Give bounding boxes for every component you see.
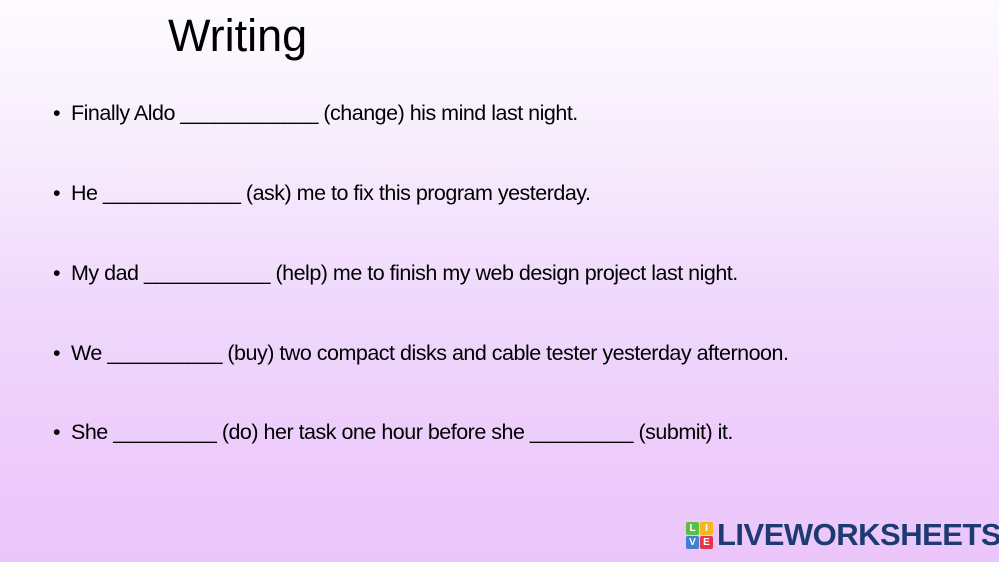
bullet-icon: • [53,98,61,128]
exercise-text: Finally Aldo ____________ (change) his m… [71,101,578,125]
page-title: Writing [168,9,307,62]
exercise-text: He ____________ (ask) me to fix this pro… [71,181,590,205]
list-item: • Finally Aldo ____________ (change) his… [48,98,948,128]
list-item: • She _________ (do) her task one hour b… [48,417,948,447]
list-item: • We __________ (buy) two compact disks … [48,338,948,368]
bullet-icon: • [53,338,61,368]
exercise-list: • Finally Aldo ____________ (change) his… [48,98,948,447]
exercise-text: We __________ (buy) two compact disks an… [71,341,788,365]
logo-tile-e: E [700,536,713,549]
exercise-text: She _________ (do) her task one hour bef… [71,420,733,444]
liveworksheets-logo: L I V E LIVEWORKSHEETS [686,518,999,552]
logo-wordmark: LIVEWORKSHEETS [717,518,999,552]
list-item: • My dad ___________ (help) me to finish… [48,258,948,288]
logo-tiles-icon: L I V E [686,522,713,549]
logo-tile-i: I [700,522,713,535]
logo-tile-l: L [686,522,699,535]
bullet-icon: • [53,258,61,288]
list-item: • He ____________ (ask) me to fix this p… [48,178,948,208]
logo-tile-v: V [686,536,699,549]
bullet-icon: • [53,417,61,447]
bullet-icon: • [53,178,61,208]
worksheet-slide: Writing • Finally Aldo ____________ (cha… [0,0,999,562]
exercise-text: My dad ___________ (help) me to finish m… [71,261,738,285]
